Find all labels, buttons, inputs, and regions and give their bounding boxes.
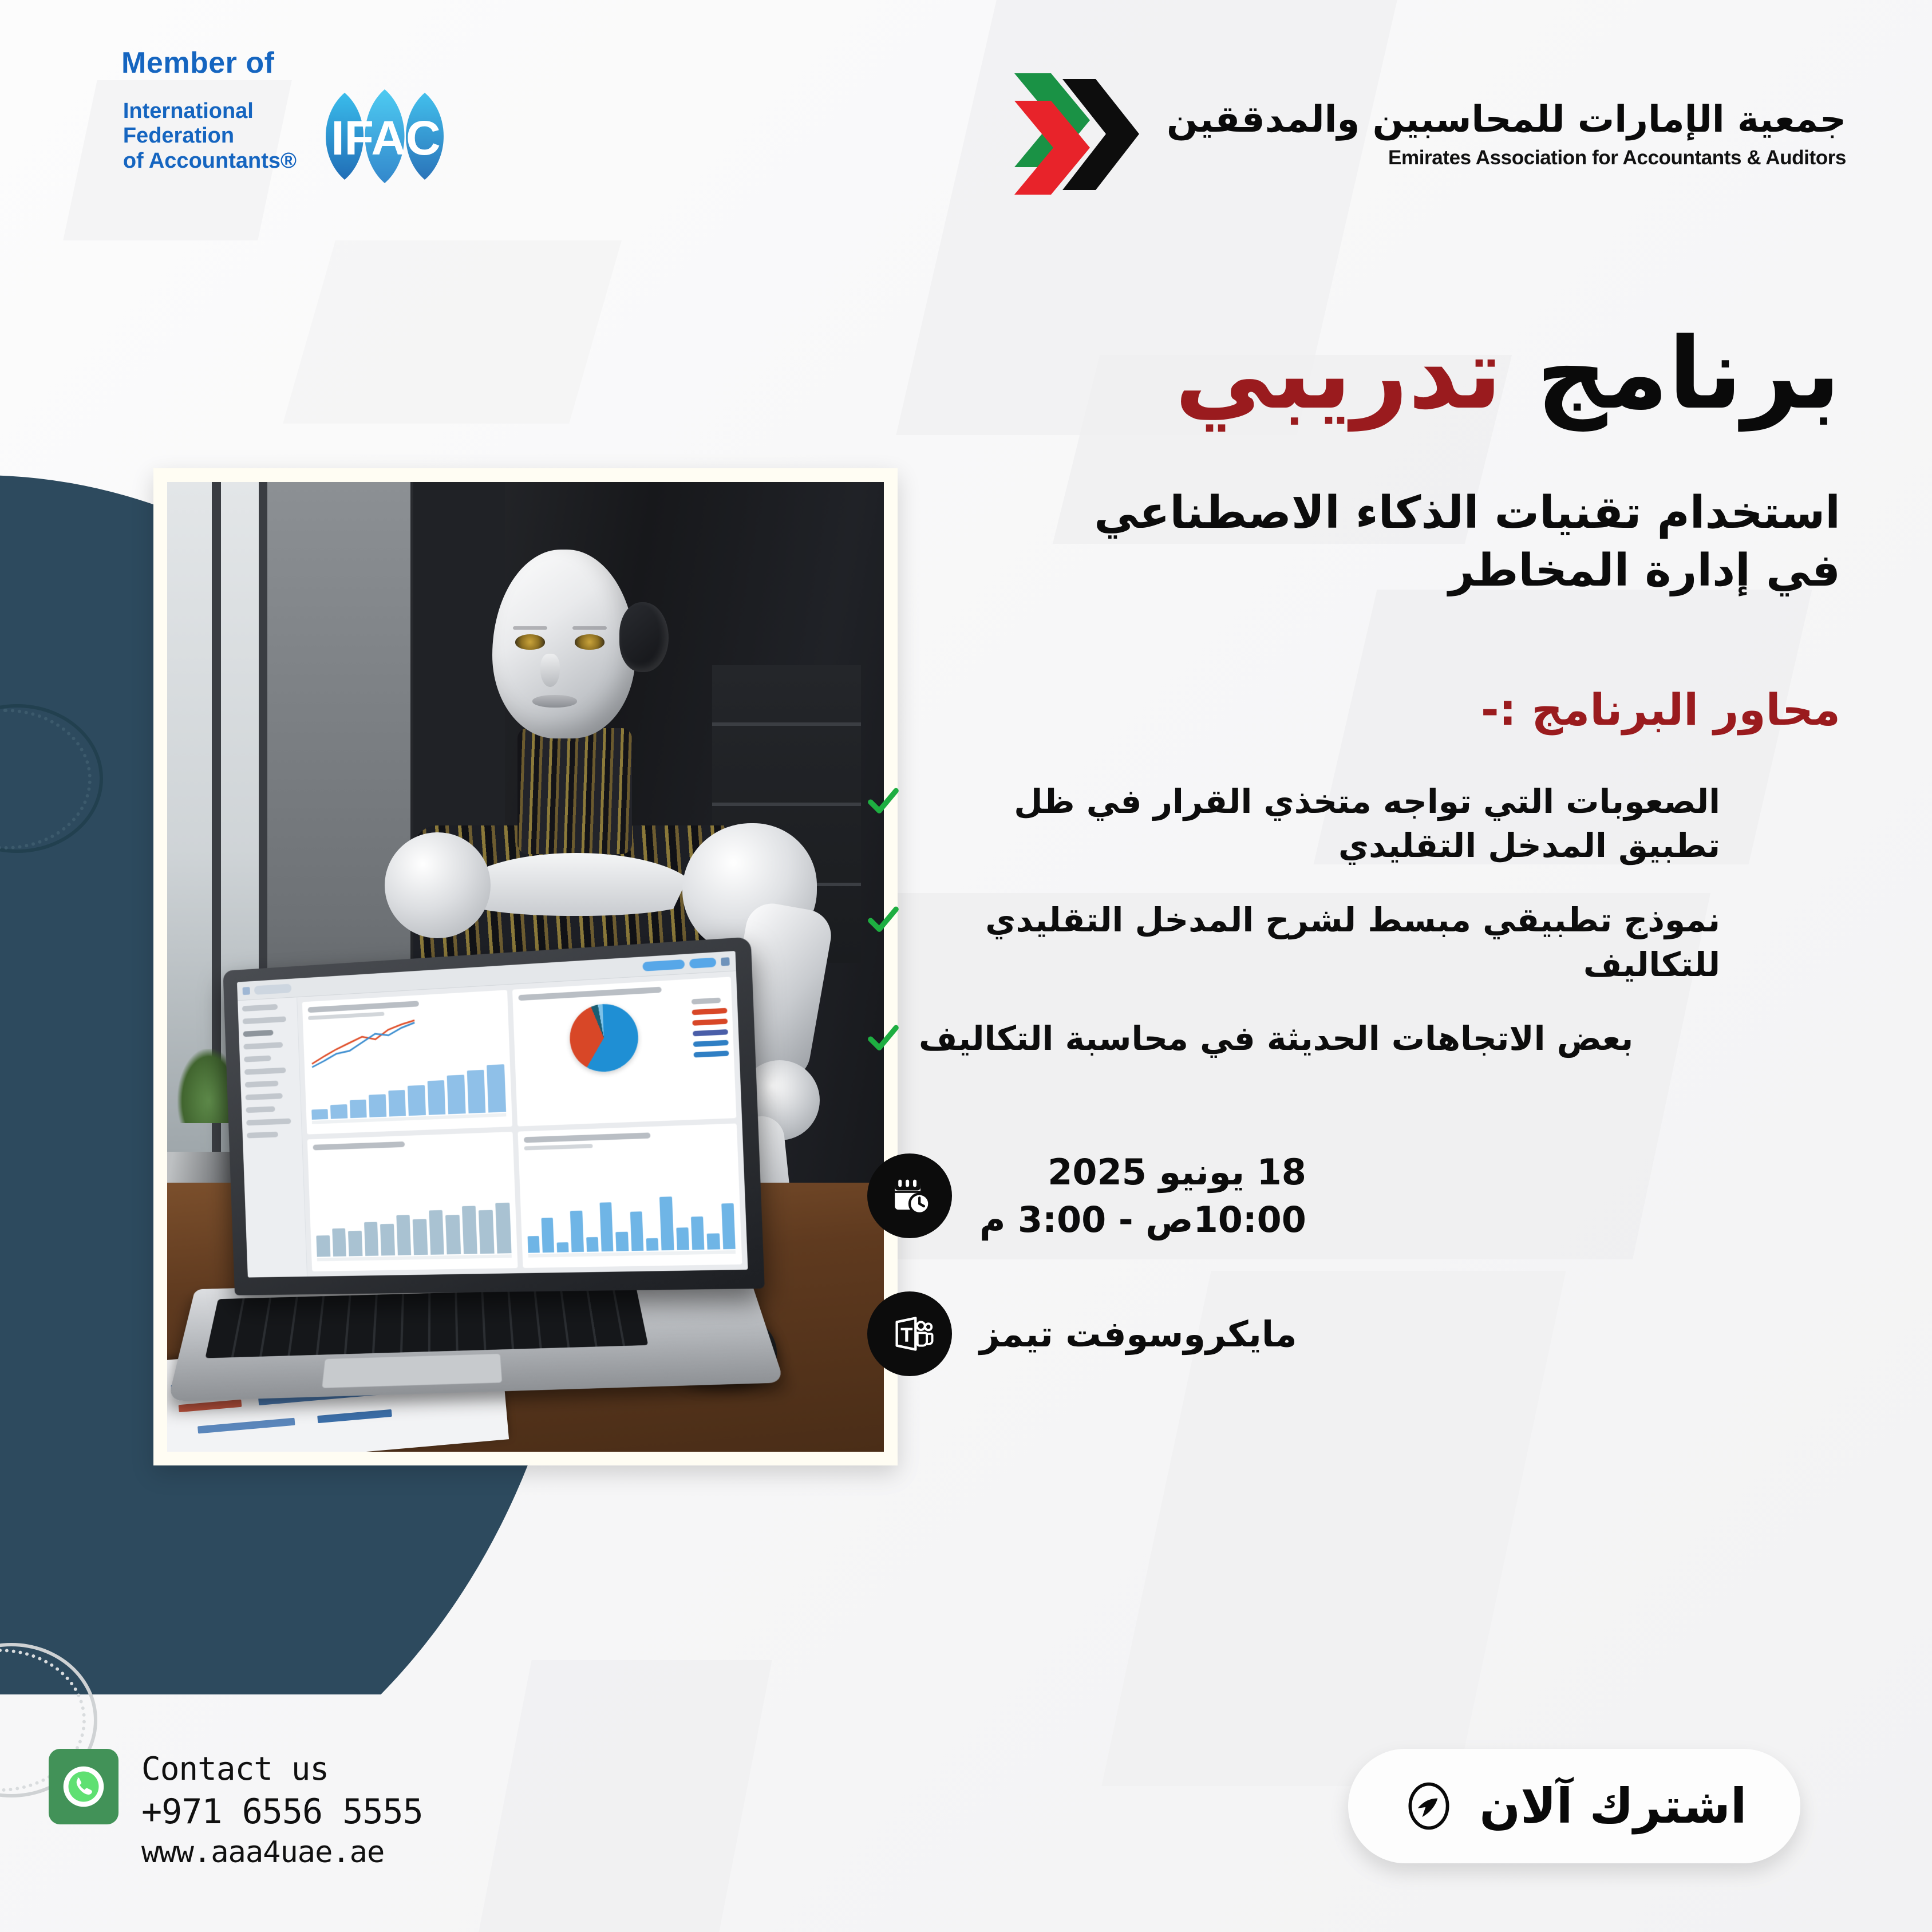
ifac-member-badge: Member of IFAC International Federa (109, 46, 464, 195)
session-platform: مايكروسوفت تيمز (979, 1310, 1297, 1358)
hero-photo (167, 482, 884, 1452)
list-item: بعض الاتجاهات الحديثة في محاسبة التكاليف (867, 1017, 1840, 1061)
poster-canvas: Member of IFAC International Federa (0, 0, 1932, 1932)
chart-card-trend (302, 990, 512, 1134)
association-name-arabic: جمعية الإمارات للمحاسبين والمدققين (1167, 100, 1846, 140)
contact-website[interactable]: www.aaa4uae.ae (141, 1834, 423, 1872)
association-name-english: Emirates Association for Accountants & A… (1167, 147, 1846, 169)
contact-label: Contact us (141, 1749, 423, 1790)
association-logo: جمعية الإمارات للمحاسبين والمدققين Emira… (1010, 63, 1846, 206)
subscribe-button-label: اشترك آلان (1479, 1778, 1747, 1834)
page-subtitle: استخدام تقنيات الذكاء الاصطناعي في إدارة… (867, 484, 1840, 600)
detail-row-platform: مايكروسوفت تيمز (867, 1291, 1840, 1376)
chart-card-pie (512, 977, 736, 1126)
ifac-line-1: International (123, 99, 297, 124)
list-item: نموذج تطبيقي مبسط لشرح المدخل التقليدي ل… (867, 898, 1840, 987)
session-details: 18 يونيو 2025 10:00ص - 3:00 م (867, 1148, 1840, 1376)
contact-block[interactable]: Contact us +971 6556 5555 www.aaa4uae.ae (49, 1749, 423, 1872)
subscribe-button[interactable]: اشترك آلان (1348, 1749, 1800, 1863)
uae-chevron-logo-icon (1010, 63, 1147, 206)
subtitle-line-1: استخدام تقنيات الذكاء الاصطناعي (867, 484, 1840, 542)
hero-photo-frame (153, 468, 898, 1465)
chart-card-area (307, 1132, 517, 1271)
ifac-wordmark: International Federation of Accountants® (123, 99, 297, 173)
contact-phone[interactable]: +971 6556 5555 (141, 1790, 423, 1834)
session-time: 10:00ص - 3:00 م (979, 1196, 1306, 1243)
cursor-click-circle-icon (1401, 1779, 1456, 1834)
check-icon (867, 904, 899, 936)
check-icon (867, 785, 899, 817)
subtitle-line-2: في إدارة المخاطر (867, 542, 1840, 600)
calendar-clock-icon (867, 1153, 952, 1238)
geo-shape-bottom-left (476, 1660, 772, 1932)
list-item-label: نموذج تطبيقي مبسط لشرح المدخل التقليدي ل… (919, 898, 1720, 987)
title-word-black: برنامج (1536, 316, 1840, 431)
ifac-line-2: Federation (123, 124, 297, 148)
list-item-label: بعض الاتجاهات الحديثة في محاسبة التكاليف (919, 1017, 1633, 1061)
detail-row-datetime: 18 يونيو 2025 10:00ص - 3:00 م (867, 1148, 1840, 1243)
microsoft-teams-icon (867, 1291, 952, 1376)
program-axes-list: الصعوبات التي تواجه متخذي القرار في ظل ت… (867, 780, 1840, 1062)
session-date: 18 يونيو 2025 (979, 1148, 1306, 1196)
title-word-accent: تدريبي (1175, 316, 1502, 431)
svg-text:IFAC: IFAC (331, 111, 440, 165)
ring-outline-upper (0, 704, 103, 853)
content-column: برنامج تدريبي استخدام تقنيات الذكاء الاص… (867, 321, 1840, 1376)
laptop-screen (223, 937, 764, 1295)
check-icon (867, 1022, 899, 1054)
list-item-label: الصعوبات التي تواجه متخذي القرار في ظل ت… (919, 780, 1720, 868)
chart-card-spikes (517, 1123, 742, 1268)
geo-shape-upper-left (283, 240, 622, 424)
program-axes-heading: محاور البرنامج :- (867, 684, 1840, 735)
list-item: الصعوبات التي تواجه متخذي القرار في ظل ت… (867, 780, 1840, 868)
ring-dotted-upper (0, 709, 92, 850)
ifac-member-of-label: Member of (121, 46, 464, 80)
ifac-line-3: of Accountants® (123, 149, 297, 173)
ifac-logo-icon: IFAC (309, 85, 464, 188)
whatsapp-icon[interactable] (49, 1749, 118, 1824)
page-title: برنامج تدريبي (867, 321, 1840, 427)
